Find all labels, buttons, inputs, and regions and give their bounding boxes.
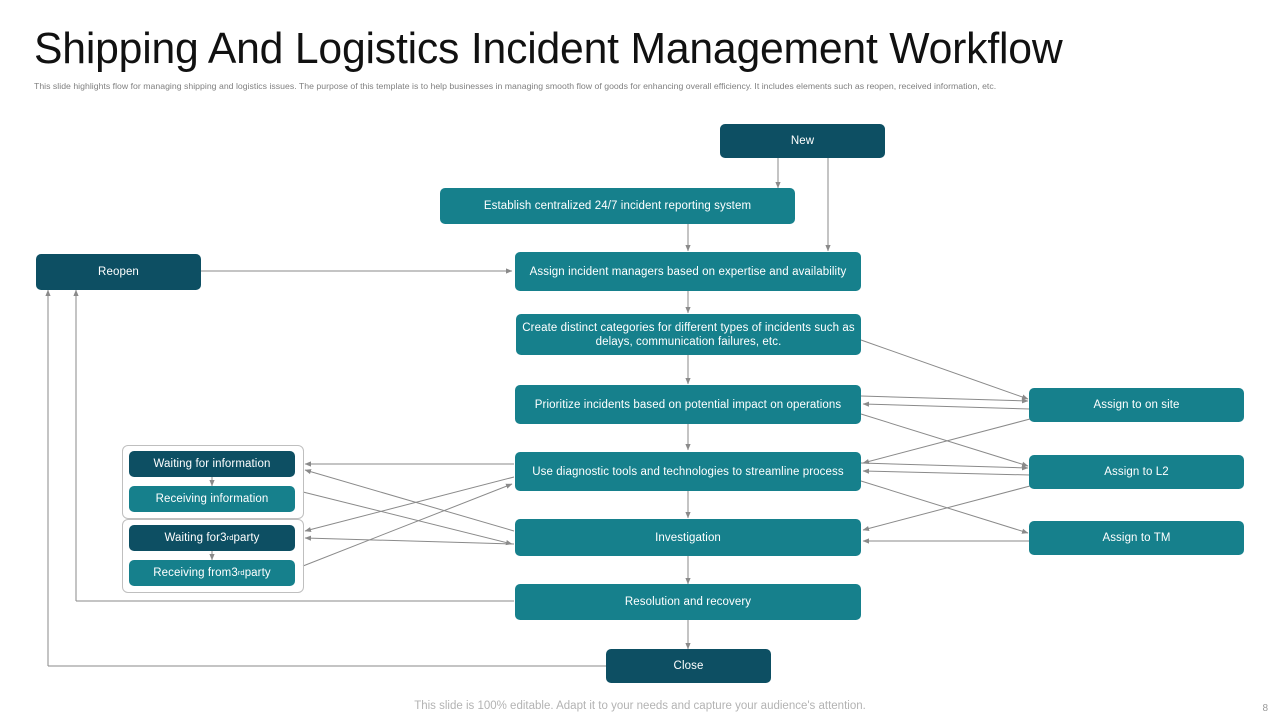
link-diagnostic-tm (861, 481, 1028, 533)
node-receiving-information[interactable]: Receiving information (129, 486, 295, 512)
waiting-third-party-number: 3 (220, 531, 227, 545)
link-receiving-third-diagnostic (303, 484, 512, 566)
page-title: Shipping And Logistics Incident Manageme… (34, 22, 1062, 76)
link-investigation-waiting-third (305, 538, 514, 544)
node-investigation[interactable]: Investigation (515, 519, 861, 556)
node-assign-incident-managers[interactable]: Assign incident managers based on expert… (515, 252, 861, 291)
receiving-third-party-text-pre: Receiving from (153, 566, 231, 580)
page-number: 8 (1262, 703, 1268, 714)
slide-canvas: Shipping And Logistics Incident Manageme… (0, 0, 1280, 720)
editable-note: This slide is 100% editable. Adapt it to… (0, 700, 1280, 712)
link-prioritize-onsite (861, 396, 1028, 401)
link-diagnostic-waiting-third (305, 477, 514, 531)
receiving-third-party-number: 3 (231, 566, 238, 580)
node-reopen[interactable]: Reopen (36, 254, 201, 290)
node-assign-to-tm[interactable]: Assign to TM (1029, 521, 1244, 555)
node-resolution-and-recovery[interactable]: Resolution and recovery (515, 584, 861, 620)
link-categories-onsite (861, 340, 1028, 399)
node-close[interactable]: Close (606, 649, 771, 683)
node-receiving-from-third-party[interactable]: Receiving from 3rd party (129, 560, 295, 586)
node-waiting-for-third-party[interactable]: Waiting for 3rd party (129, 525, 295, 551)
waiting-third-party-text-post: party (233, 531, 259, 545)
link-onsite-diagnostic (863, 419, 1030, 463)
link-prioritize-l2 (861, 414, 1028, 466)
node-new[interactable]: New (720, 124, 885, 158)
node-prioritize-incidents[interactable]: Prioritize incidents based on potential … (515, 385, 861, 424)
link-investigation-waiting-info (305, 470, 514, 531)
link-l2-diagnostic (863, 471, 1030, 475)
link-diagnostic-l2 (861, 463, 1028, 468)
node-assign-to-on-site[interactable]: Assign to on site (1029, 388, 1244, 422)
node-waiting-for-information[interactable]: Waiting for information (129, 451, 295, 477)
link-receiving-info-investigation (303, 492, 512, 544)
receiving-third-party-text-post: party (245, 566, 271, 580)
node-assign-to-l2[interactable]: Assign to L2 (1029, 455, 1244, 489)
node-use-diagnostic-tools[interactable]: Use diagnostic tools and technologies to… (515, 452, 861, 491)
node-create-categories[interactable]: Create distinct categories for different… (516, 314, 861, 355)
node-establish-reporting-system[interactable]: Establish centralized 24/7 incident repo… (440, 188, 795, 224)
waiting-third-party-text-pre: Waiting for (164, 531, 220, 545)
link-onsite-prioritize (863, 404, 1030, 409)
page-subtitle: This slide highlights flow for managing … (34, 80, 996, 92)
link-l2-investigation (863, 486, 1030, 530)
